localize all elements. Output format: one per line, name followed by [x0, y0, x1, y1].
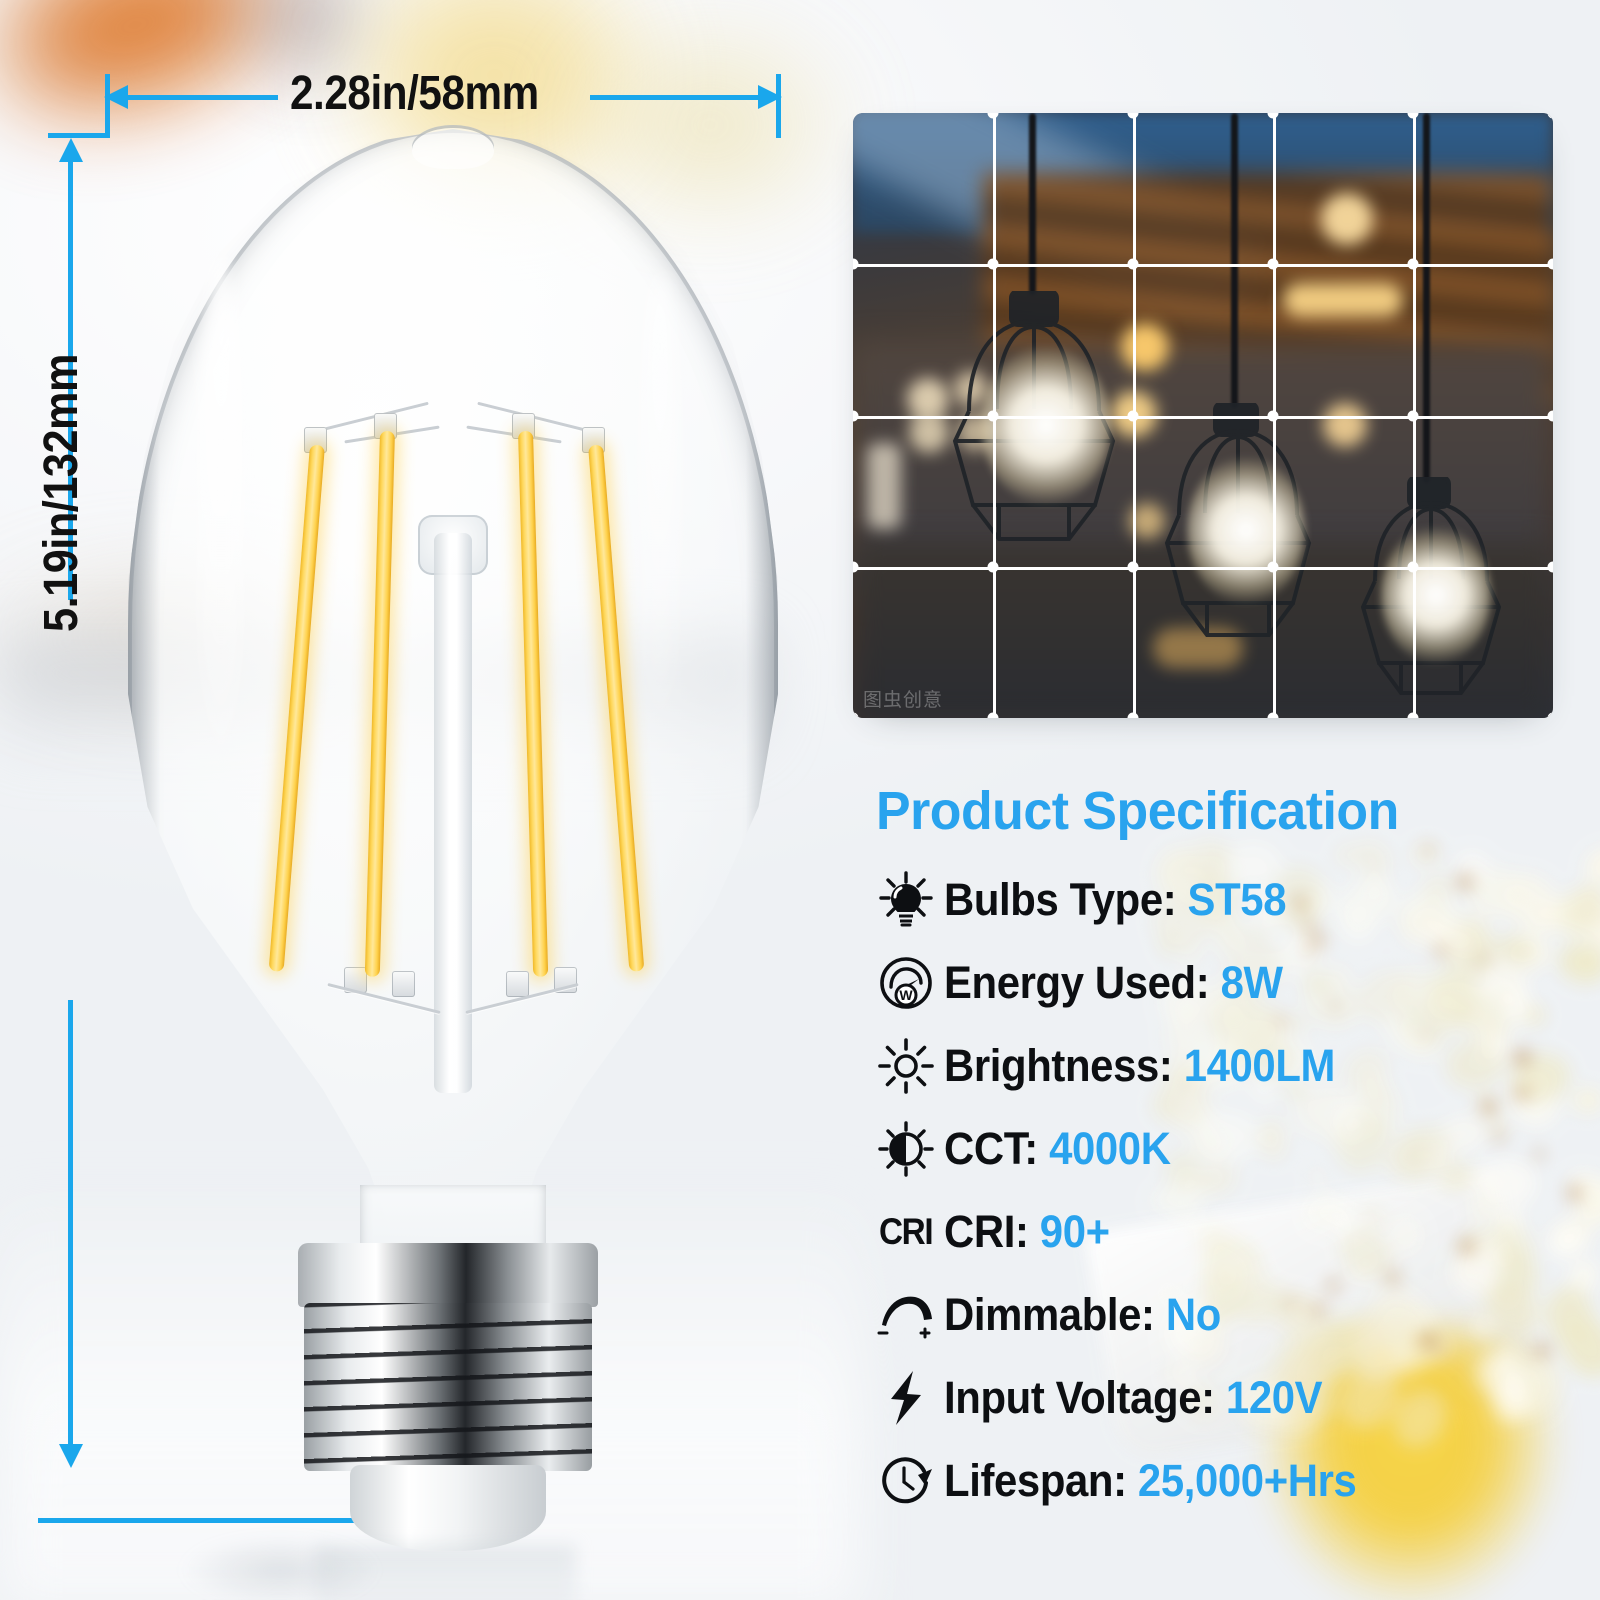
grid-line-horizontal — [853, 567, 1553, 570]
spec-value: 8W — [1221, 957, 1283, 1008]
spec-value: 25,000+Hrs — [1138, 1455, 1357, 1506]
bulb-glass-stem — [434, 533, 472, 1093]
grid-intersection-dot — [988, 713, 999, 719]
photo-watermark: 图虫创意 — [863, 685, 943, 712]
grid-intersection-dot — [988, 410, 999, 421]
lightbulb-icon — [868, 871, 944, 929]
spec-row-energy-used: W Energy Used: 8W — [868, 941, 1588, 1024]
spec-text: Lifespan: 25,000+Hrs — [944, 1455, 1356, 1507]
dimmer-arc-icon — [868, 1291, 944, 1339]
grid-intersection-dot — [1128, 561, 1139, 572]
grid-intersection-dot — [1548, 259, 1554, 270]
spec-label: Dimmable: — [944, 1289, 1155, 1340]
spec-text: Energy Used: 8W — [944, 957, 1283, 1009]
base-collar — [298, 1243, 598, 1307]
spec-row-dimmable: Dimmable: No — [868, 1273, 1588, 1356]
width-dimension-label: 2.28in/58mm — [290, 66, 539, 121]
grid-intersection-dot — [988, 259, 999, 270]
grid-intersection-dot — [1408, 713, 1419, 719]
base-threads — [304, 1303, 592, 1471]
grid-intersection-dot — [988, 561, 999, 572]
spec-row-input-voltage: Input Voltage: 120V — [868, 1356, 1588, 1439]
spec-text: Input Voltage: 120V — [944, 1372, 1322, 1424]
grid-intersection-dot — [1128, 259, 1139, 270]
grid-intersection-dot — [1268, 259, 1279, 270]
spec-row-brightness: Brightness: 1400LM — [868, 1024, 1588, 1107]
bulb-highlight-left — [198, 255, 244, 775]
grid-intersection-dot — [1548, 561, 1554, 572]
grid-line-horizontal — [853, 264, 1553, 267]
sun-brightness-icon — [868, 1038, 944, 1094]
spec-text: CRI: 90+ — [944, 1206, 1110, 1258]
grid-intersection-dot — [1548, 410, 1554, 421]
grid-intersection-dot — [1268, 561, 1279, 572]
spec-row-cri: CRI CRI: 90+ — [868, 1190, 1588, 1273]
bulb-top-nub — [412, 125, 494, 169]
spec-label: Energy Used: — [944, 957, 1209, 1008]
spec-label: Bulbs Type: — [944, 874, 1176, 925]
spec-text: CCT: 4000K — [944, 1123, 1171, 1175]
bulb-highlight-right — [640, 275, 680, 735]
bulb-e26-base — [298, 1243, 598, 1543]
grid-intersection-dot — [1128, 410, 1139, 421]
grid-intersection-dot — [1408, 410, 1419, 421]
spec-value: 90+ — [1040, 1206, 1110, 1257]
wattage-meter-icon: W — [868, 955, 944, 1011]
grid-intersection-dot — [853, 259, 859, 270]
spec-row-lifespan: Lifespan: 25,000+Hrs — [868, 1439, 1588, 1522]
grid-intersection-dot — [1408, 259, 1419, 270]
cri-mark: CRI — [879, 1211, 932, 1253]
spec-label: CCT: — [944, 1123, 1038, 1174]
pendant-lamp-2 — [1153, 403, 1323, 673]
grid-intersection-dot — [1408, 561, 1419, 572]
arrow-up-icon — [58, 138, 84, 166]
spec-row-bulbs-type: Bulbs Type: ST58 — [868, 858, 1588, 941]
grid-line-horizontal — [853, 416, 1553, 419]
specification-title: Product Specification — [876, 780, 1560, 842]
lifestyle-photo: 图虫创意 — [853, 113, 1553, 718]
pendant-lamp-1 — [939, 291, 1129, 581]
spec-label: Input Voltage: — [944, 1372, 1215, 1423]
cri-icon: CRI — [868, 1211, 944, 1253]
grid-intersection-dot — [1548, 713, 1554, 719]
spec-value: 120V — [1226, 1372, 1322, 1423]
spec-label: CRI: — [944, 1206, 1029, 1257]
spec-text: Brightness: 1400LM — [944, 1040, 1335, 1092]
bulb-shadow — [180, 1535, 380, 1600]
grid-intersection-dot — [1268, 713, 1279, 719]
infographic-canvas: 2.28in/58mm 5.19in/132mm — [0, 0, 1600, 1600]
svg-text:W: W — [899, 987, 913, 1003]
arrow-right-icon — [756, 83, 782, 111]
spec-text: Bulbs Type: ST58 — [944, 874, 1286, 926]
spec-text: Dimmable: No — [944, 1289, 1221, 1341]
specification-panel: Product Specification — [868, 780, 1588, 1522]
spec-value: 4000K — [1049, 1123, 1170, 1174]
spec-label: Lifespan: — [944, 1455, 1127, 1506]
spec-value: ST58 — [1188, 874, 1287, 925]
spec-row-cct: CCT: 4000K — [868, 1107, 1588, 1190]
lightning-bolt-icon — [868, 1369, 944, 1427]
color-temperature-icon — [868, 1121, 944, 1177]
spec-value: No — [1166, 1289, 1221, 1340]
product-bulb-image — [120, 115, 785, 1525]
arrow-down-icon — [58, 1440, 84, 1468]
grid-intersection-dot — [1128, 713, 1139, 719]
pendant-lamp-3 — [1351, 477, 1511, 718]
clock-lifespan-icon — [868, 1453, 944, 1509]
grid-intersection-dot — [1268, 410, 1279, 421]
height-dimension-label: 5.19in/132mm — [34, 354, 89, 632]
spec-value: 1400LM — [1184, 1040, 1335, 1091]
spec-label: Brightness: — [944, 1040, 1172, 1091]
